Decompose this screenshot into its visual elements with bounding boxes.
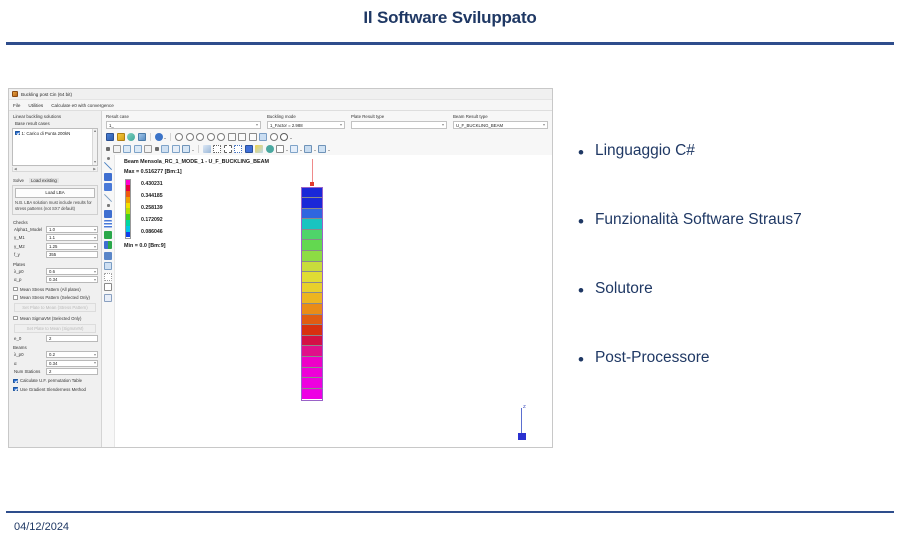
solid-square-icon[interactable] <box>104 183 112 191</box>
chevron-down-icon[interactable] <box>340 124 342 126</box>
bullet-list: • Linguaggio C# • Funzionalità Software … <box>578 142 893 418</box>
buckling-mode-combo[interactable]: 1_Factor = 2.988 <box>267 121 345 129</box>
beam-result-type-label: Beam Result type <box>453 114 548 119</box>
result-case-label: Result case <box>106 114 261 119</box>
field-e0: e_0 2 <box>12 335 98 342</box>
expand-icon[interactable] <box>238 133 246 141</box>
app-logo-icon <box>12 91 18 97</box>
beam-color-band <box>302 209 322 220</box>
combo-value: 1_Factor = 2.988 <box>270 123 303 128</box>
toolbar-separator <box>150 133 151 141</box>
check-label: Mean Stress Pattern (Selected Only) <box>20 295 90 300</box>
chevron-down-icon[interactable] <box>164 138 166 139</box>
beam-color-band <box>302 357 322 368</box>
toolbar-separator <box>198 145 199 153</box>
beam-color-band <box>302 389 322 400</box>
result-selectors: Result case 1_ Buckling mode 1_Factor = … <box>102 111 552 131</box>
app-title: Buckling post Cin (64 bit) <box>21 92 72 97</box>
result-title: Beam Mensola_RC_1_MODE_1 - U_F_BUCKLING_… <box>124 159 269 165</box>
check-mean-sigmavm-selected[interactable]: Mean SigmaVM (Selected Only) <box>13 316 98 321</box>
settings-gear-icon[interactable] <box>155 133 163 141</box>
chevron-down-icon[interactable] <box>256 124 258 126</box>
combo-value: U_F_BUCKLING_BEAM <box>456 123 503 128</box>
chevron-down-icon[interactable] <box>94 237 96 239</box>
field-label: Alpha1_Model <box>12 227 46 232</box>
field-fy: f_y 355 <box>12 251 98 258</box>
menu-item-file[interactable]: File <box>13 103 20 108</box>
dashed-box-icon[interactable] <box>224 145 232 153</box>
app-body: Linear buckling solutions Base result ca… <box>9 111 552 448</box>
checkbox-icon[interactable] <box>13 295 18 300</box>
square-icon[interactable] <box>104 173 112 181</box>
chevron-down-icon[interactable] <box>94 229 96 231</box>
legend-value: 0.344185 <box>141 194 163 199</box>
listbox-vertical-scrollbar[interactable]: ▲ ▼ <box>92 129 97 165</box>
bullet-dot-icon: • <box>578 351 584 368</box>
legend-value: 0.172092 <box>141 218 163 223</box>
chevron-down-icon[interactable] <box>94 271 96 273</box>
check-calculate-uf-table[interactable]: Calculate U.F. permutation Table <box>13 378 98 383</box>
shade-view-icon[interactable] <box>127 133 135 141</box>
pencil-icon[interactable] <box>203 145 211 153</box>
beam-color-band <box>302 240 322 251</box>
text-rotate-icon[interactable] <box>104 294 112 302</box>
tab-load-existing[interactable]: Load existing <box>29 178 59 183</box>
arrow-right-icon[interactable] <box>104 231 112 239</box>
checkbox-checked-icon[interactable] <box>13 387 18 392</box>
list-item: • Solutore <box>578 280 893 299</box>
beam-result-contour[interactable] <box>301 187 323 401</box>
list-item: • Funzionalità Software Straus7 <box>578 211 893 230</box>
fit-view-icon[interactable] <box>259 133 267 141</box>
field-label: f_y <box>12 252 46 257</box>
field-label: γ_M1 <box>12 235 46 240</box>
checkbox-checked-icon[interactable] <box>15 131 20 136</box>
slide: Il Software Sviluppato Buckling post Cin… <box>0 0 900 548</box>
base-result-cases-label: Base result cases <box>15 121 98 126</box>
pan-icon[interactable] <box>228 133 236 141</box>
list-item: • Post-Processore <box>578 349 893 368</box>
axis-z-label: Z <box>523 404 526 409</box>
point-icon[interactable] <box>155 147 159 151</box>
chevron-down-icon[interactable] <box>192 150 194 151</box>
field-beam-lambda-p0: λ_p0 0.2 <box>12 351 98 358</box>
bullet-dot-icon: • <box>578 282 584 299</box>
beam-color-band <box>302 293 322 304</box>
result-max-label: Max = 0.516277 [Bm:1] <box>124 169 182 175</box>
bullet-dot-icon: • <box>578 213 584 230</box>
load-lba-button[interactable]: Load LBA <box>15 188 95 198</box>
result-case-group: Result case 1_ <box>106 114 261 129</box>
title-divider <box>6 42 894 45</box>
plate-icon[interactable] <box>123 145 131 153</box>
zoom-out-icon[interactable] <box>207 133 215 141</box>
select-box-icon[interactable] <box>161 145 169 153</box>
linear-buckling-solutions-label: Linear buckling solutions <box>13 114 98 119</box>
scroll-up-icon[interactable]: ▲ <box>93 129 97 134</box>
combo-value: 0.6 <box>49 269 55 274</box>
menu-item-calculate-e0[interactable]: Calculate e0 with convergence <box>51 103 114 108</box>
line-icon[interactable] <box>104 162 112 170</box>
brick-icon[interactable] <box>134 145 142 153</box>
beam-color-band <box>302 188 322 199</box>
check-label: Use Gradient Slenderness Method <box>20 387 86 392</box>
buckling-mode-label: Buckling mode <box>267 114 345 119</box>
fill-box-icon[interactable] <box>245 145 253 153</box>
field-label: α <box>12 361 46 366</box>
beam-color-band <box>302 315 322 326</box>
chevron-down-icon[interactable] <box>290 138 292 139</box>
combo-value: 0.34 <box>49 361 57 366</box>
refresh-icon[interactable] <box>270 133 278 141</box>
beam-alpha-combo[interactable]: 0.34 <box>46 360 98 367</box>
buckling-mode-group: Buckling mode 1_Factor = 2.988 <box>267 114 345 129</box>
point-small-icon[interactable] <box>107 204 110 207</box>
beam-load-marker-icon <box>310 182 314 186</box>
chevron-down-icon[interactable] <box>286 150 288 151</box>
toolbar-separator <box>170 133 171 141</box>
diagonal-icon[interactable] <box>104 194 112 202</box>
globe-icon[interactable] <box>266 145 274 153</box>
beam-color-band <box>302 325 322 336</box>
field-label: α_p <box>12 277 46 282</box>
plate-alpha-p-combo[interactable]: 0.34 <box>46 276 98 283</box>
query-icon[interactable] <box>280 133 288 141</box>
beam-lambda-p0-combo[interactable]: 0.2 <box>46 351 98 358</box>
beam-color-band <box>302 262 322 273</box>
bars-icon[interactable] <box>104 220 112 228</box>
lba-note: N.B. LBA solution must include results f… <box>15 200 95 212</box>
combo-value: 0.34 <box>49 277 57 282</box>
check-label: Mean Stress Pattern (All plates) <box>20 287 81 292</box>
frame-icon[interactable] <box>213 145 221 153</box>
beam-color-band <box>302 346 322 357</box>
bullet-text: Funzionalità Software Straus7 <box>595 211 802 229</box>
result-case-combo[interactable]: 1_ <box>106 121 261 129</box>
display-icon[interactable] <box>304 145 312 153</box>
app-window: Buckling post Cin (64 bit) File Utilitie… <box>8 88 553 448</box>
footer-date: 04/12/2024 <box>14 521 69 533</box>
gamma-m1-combo[interactable]: 1.1 <box>46 234 98 241</box>
axis-stem <box>521 408 522 434</box>
beams-section-title: Beams <box>13 345 98 350</box>
solve-tabs: Solve Load existing <box>13 178 98 183</box>
checks-section-title: Checks <box>13 220 98 225</box>
wireframe-icon[interactable] <box>138 133 146 141</box>
legend-value: 0.258139 <box>141 206 163 211</box>
footer-divider <box>6 511 894 513</box>
alpha1-model-combo[interactable]: 1.0 <box>46 226 98 233</box>
zoom-reset-icon[interactable] <box>217 133 225 141</box>
list-item: • Linguaggio C# <box>578 142 893 161</box>
chevron-down-icon[interactable] <box>300 150 302 151</box>
combo-value: 1_ <box>109 123 114 128</box>
check-mean-stress-all[interactable]: Mean Stress Pattern (All plates) <box>13 287 98 292</box>
monitor-icon[interactable] <box>104 262 112 270</box>
chevron-down-icon[interactable] <box>94 362 96 364</box>
field-beam-alpha: α 0.34 <box>12 360 98 367</box>
legend-value: 0.430231 <box>141 182 163 187</box>
combo-value: 1.0 <box>49 227 55 232</box>
dotted-box-icon[interactable] <box>234 145 242 153</box>
fy-input[interactable]: 355 <box>46 251 98 258</box>
beam-color-band <box>302 304 322 315</box>
field-label: γ_M2 <box>12 244 46 249</box>
node-icon[interactable] <box>106 147 110 151</box>
chevron-down-icon[interactable] <box>94 246 96 248</box>
e0-input[interactable]: 2 <box>46 335 98 342</box>
beam-color-band <box>302 230 322 241</box>
chevron-down-icon[interactable] <box>314 150 316 151</box>
beam-color-band <box>302 336 322 347</box>
listbox-horizontal-scrollbar[interactable]: ◀ ▶ <box>12 167 98 172</box>
list-item-label: 1: Carico di Punta 200kN <box>22 131 71 136</box>
bullet-text: Post-Processore <box>595 349 710 367</box>
node-number-icon[interactable] <box>290 145 298 153</box>
set-plate-to-mean-stress-button: Set Plate to Mean (Stress Pattern) <box>14 303 96 313</box>
beam-result-type-combo[interactable]: U_F_BUCKLING_BEAM <box>453 121 548 129</box>
field-alpha1-model: Alpha1_Model 1.0 <box>12 226 98 233</box>
plate-result-type-combo[interactable] <box>351 121 447 129</box>
tab-solve[interactable]: Solve <box>13 178 24 183</box>
toolbar-row-1 <box>102 131 552 143</box>
number-icon[interactable] <box>276 145 284 153</box>
axis-origin-box <box>518 433 526 440</box>
legend-values: 0.430231 0.344185 0.258139 0.172092 0.08… <box>141 179 163 239</box>
bullet-text: Solutore <box>595 280 653 298</box>
chevron-down-icon[interactable] <box>328 150 330 151</box>
result-min-label: Min = 0.0 [Bm:9] <box>124 243 166 249</box>
canvas-wrap: Beam Mensola_RC_1_MODE_1 - U_F_BUCKLING_… <box>102 155 552 449</box>
field-label: λ_p0 <box>12 352 46 357</box>
field-label: λ_p0 <box>12 269 46 274</box>
collapse-icon[interactable] <box>249 133 257 141</box>
zoom-in-icon[interactable] <box>196 133 204 141</box>
chevron-down-icon[interactable] <box>543 124 545 126</box>
field-plate-alpha-p: α_p 0.34 <box>12 276 98 283</box>
chevron-down-icon[interactable] <box>94 354 96 356</box>
beam-result-type-group: Beam Result type U_F_BUCKLING_BEAM <box>453 114 548 129</box>
set-plate-to-mean-sigmavm-button: Set Plate to Mean (SigmaVM) <box>14 324 96 334</box>
menu-item-utilities[interactable]: Utilities <box>28 103 43 108</box>
rotate-icon[interactable] <box>186 133 194 141</box>
toolbar-row-2 <box>102 143 552 155</box>
plate-lambda-p0-combo[interactable]: 0.6 <box>46 268 98 275</box>
beam-color-band <box>302 219 322 230</box>
base-result-cases-listbox[interactable]: 1: Carico di Punta 200kN ▲ ▼ <box>12 128 98 166</box>
page-title: Il Software Sviluppato <box>0 8 900 28</box>
vertical-toolbar <box>102 155 115 449</box>
scroll-right-icon[interactable]: ▶ <box>93 167 96 171</box>
field-label: e_0 <box>12 336 46 341</box>
result-canvas[interactable]: Beam Mensola_RC_1_MODE_1 - U_F_BUCKLING_… <box>115 155 552 449</box>
field-num-stations: Num Stations 2 <box>12 368 98 375</box>
legend-value: 0.086046 <box>141 230 163 235</box>
beam-color-band <box>302 378 322 389</box>
plate-result-type-label: Plate Result type <box>351 114 447 119</box>
check-label: Calculate U.F. permutation Table <box>20 378 82 383</box>
bullet-text: Linguaggio C# <box>595 142 695 160</box>
chevron-down-icon[interactable] <box>442 124 444 126</box>
checkbox-checked-icon[interactable] <box>13 379 18 384</box>
list-item[interactable]: 1: Carico di Punta 200kN <box>13 129 97 137</box>
combo-value: 1.25 <box>49 244 57 249</box>
flag-icon[interactable] <box>104 252 112 260</box>
scroll-down-icon[interactable]: ▼ <box>93 160 97 165</box>
load-lba-panel: Load LBA N.B. LBA solution must include … <box>12 185 98 215</box>
beam-icon[interactable] <box>113 145 121 153</box>
legend-colorbar <box>125 179 131 239</box>
dot-icon[interactable] <box>107 157 110 160</box>
axis-triad: Z <box>516 404 534 440</box>
right-area: Result case 1_ Buckling mode 1_Factor = … <box>102 111 552 448</box>
column-icon[interactable] <box>104 241 112 249</box>
combo-value: 0.2 <box>49 352 55 357</box>
undo-arrow-icon[interactable] <box>175 133 183 141</box>
app-titlebar: Buckling post Cin (64 bit) <box>9 89 552 100</box>
check-label: Mean SigmaVM (Selected Only) <box>20 316 81 321</box>
menu-bar: File Utilities Calculate e0 with converg… <box>9 100 552 111</box>
beam-color-band <box>302 198 322 209</box>
panel-icon[interactable] <box>104 210 112 218</box>
copy-icon[interactable] <box>318 145 326 153</box>
check-gradient-slenderness[interactable]: Use Gradient Slenderness Method <box>13 387 98 392</box>
beam-color-band <box>302 272 322 283</box>
field-label: Num Stations <box>12 369 46 374</box>
field-gamma-m1: γ_M1 1.1 <box>12 234 98 241</box>
clipboard-icon[interactable] <box>182 145 190 153</box>
gamma-m2-combo[interactable]: 1.25 <box>46 243 98 250</box>
beam-color-band <box>302 251 322 262</box>
beam-color-band <box>302 283 322 294</box>
checkbox-icon[interactable] <box>13 287 18 292</box>
solid-view-icon[interactable] <box>117 133 125 141</box>
beam-color-band <box>302 368 322 379</box>
layers-icon[interactable] <box>255 145 263 153</box>
field-gamma-m2: γ_M2 1.25 <box>12 243 98 250</box>
plate-result-type-group: Plate Result type <box>351 114 447 129</box>
plates-section-title: Plates <box>13 262 98 267</box>
check-mean-stress-selected[interactable]: Mean Stress Pattern (Selected Only) <box>13 295 98 300</box>
split-icon[interactable] <box>104 283 112 291</box>
legend-color-band <box>126 232 130 238</box>
left-panel: Linear buckling solutions Base result ca… <box>9 111 102 448</box>
dots-grid-icon[interactable] <box>104 273 112 281</box>
field-plate-lambda-p0: λ_p0 0.6 <box>12 268 98 275</box>
num-stations-input[interactable]: 2 <box>46 368 98 375</box>
checkbox-icon[interactable] <box>13 316 18 321</box>
combo-value: 1.1 <box>49 235 55 240</box>
scroll-left-icon[interactable]: ◀ <box>14 167 17 171</box>
select-all-icon[interactable] <box>172 145 180 153</box>
grid-view-icon[interactable] <box>106 133 114 141</box>
chevron-down-icon[interactable] <box>94 279 96 281</box>
link-icon[interactable] <box>144 145 152 153</box>
bullet-dot-icon: • <box>578 144 584 161</box>
